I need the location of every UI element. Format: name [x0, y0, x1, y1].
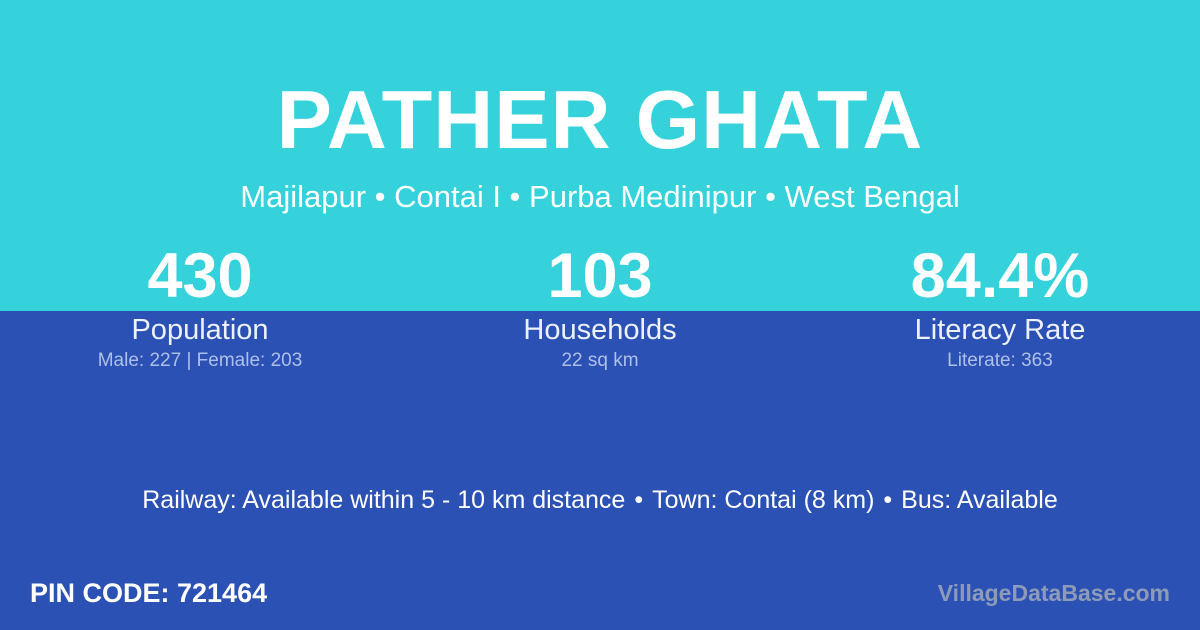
stat-sublabel: 22 sq km [400, 348, 800, 374]
stat-sublabel: Male: 227 | Female: 203 [0, 348, 400, 374]
amenities-line: Railway: Available within 5 - 10 km dist… [0, 484, 1200, 516]
stat-value: 430 [0, 240, 400, 312]
stats-row: 430 Population Male: 227 | Female: 203 1… [0, 240, 1200, 374]
card-footer: PIN CODE: 721464 VillageDataBase.com [0, 572, 1200, 614]
amenity-separator: • [625, 484, 652, 516]
stat-literacy-rate: 84.4% Literacy Rate Literate: 363 [800, 240, 1200, 374]
stat-label: Households [400, 312, 800, 348]
pin-code: PIN CODE: 721464 [30, 576, 267, 610]
amenity-bus: Bus: Available [901, 486, 1058, 514]
site-watermark: VillageDataBase.com [938, 578, 1170, 608]
stat-label: Literacy Rate [800, 312, 1200, 348]
amenity-town: Town: Contai (8 km) [652, 486, 874, 514]
amenity-railway: Railway: Available within 5 - 10 km dist… [142, 486, 625, 514]
stat-value: 103 [400, 240, 800, 312]
amenity-separator: • [874, 484, 901, 516]
village-info-card: PATHER GHATA Majilapur • Contai I • Purb… [0, 0, 1200, 630]
stat-population: 430 Population Male: 227 | Female: 203 [0, 240, 400, 374]
stat-households: 103 Households 22 sq km [400, 240, 800, 374]
breadcrumb: Majilapur • Contai I • Purba Medinipur •… [0, 161, 1200, 212]
card-header: PATHER GHATA Majilapur • Contai I • Purb… [0, 0, 1200, 212]
stat-sublabel: Literate: 363 [800, 348, 1200, 374]
page-title: PATHER GHATA [0, 0, 1200, 161]
stat-value: 84.4% [800, 240, 1200, 312]
stat-label: Population [0, 312, 400, 348]
